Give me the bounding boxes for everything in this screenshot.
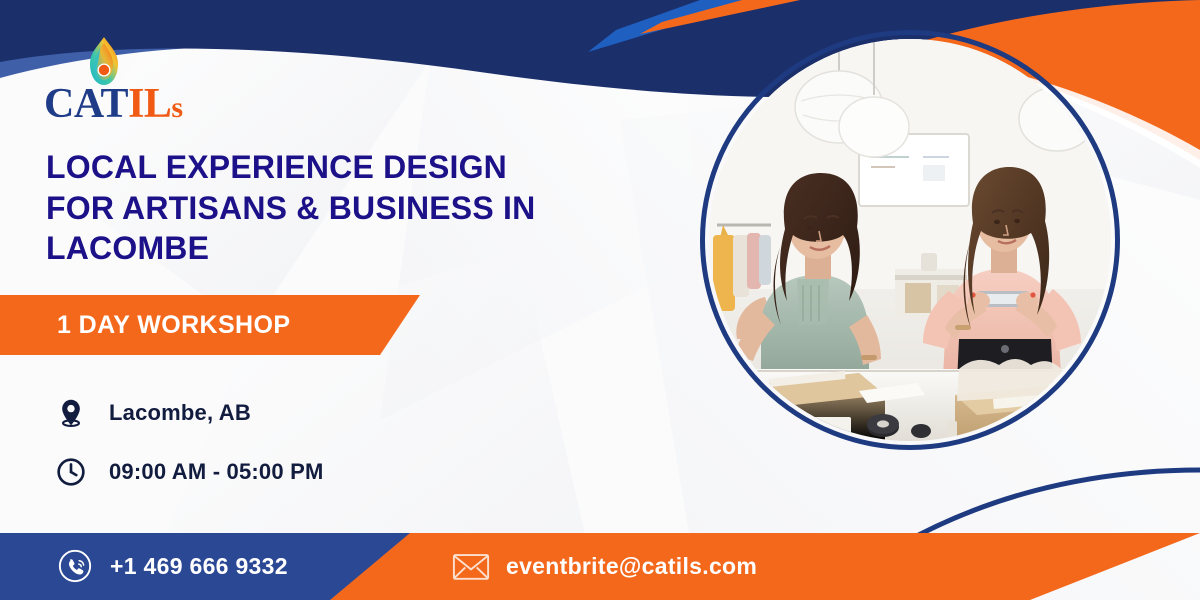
email-text: eventbrite@catils.com — [506, 553, 757, 580]
photo-ring — [700, 30, 1120, 450]
event-photo — [700, 30, 1120, 450]
location-text: Lacombe, AB — [109, 400, 251, 426]
phone-icon — [56, 547, 94, 585]
headline-line-3: LACOMBE — [46, 228, 606, 269]
page-title: LOCAL EXPERIENCE DESIGN FOR ARTISANS & B… — [46, 147, 606, 269]
logo-text-il: IL — [128, 81, 171, 127]
logo-wordmark: CATILs — [44, 83, 224, 125]
ribbon-label: 1 DAY WORKSHOP — [57, 295, 290, 355]
contact-footer: +1 469 666 9332 eventbrite@catils.com — [0, 533, 1200, 600]
event-banner: CATILs LOCAL EXPERIENCE DESIGN FOR ARTIS… — [0, 0, 1200, 600]
footer-phone[interactable]: +1 469 666 9332 — [56, 547, 288, 585]
logo[interactable]: CATILs — [44, 36, 224, 131]
workshop-ribbon: 1 DAY WORKSHOP — [0, 295, 420, 355]
detail-time: 09:00 AM - 05:00 PM — [54, 455, 324, 489]
phone-text: +1 469 666 9332 — [110, 553, 288, 580]
headline-line-2: FOR ARTISANS & BUSINESS IN — [46, 188, 606, 229]
headline-line-1: LOCAL EXPERIENCE DESIGN — [46, 147, 606, 188]
logo-text-s: s — [171, 91, 182, 124]
envelope-icon — [452, 547, 490, 585]
footer-email[interactable]: eventbrite@catils.com — [452, 547, 757, 585]
time-text: 09:00 AM - 05:00 PM — [109, 459, 324, 485]
clock-icon — [54, 455, 88, 489]
logo-text-cat: CAT — [44, 81, 128, 127]
detail-location: Lacombe, AB — [54, 396, 251, 430]
location-pin-icon — [54, 396, 88, 430]
